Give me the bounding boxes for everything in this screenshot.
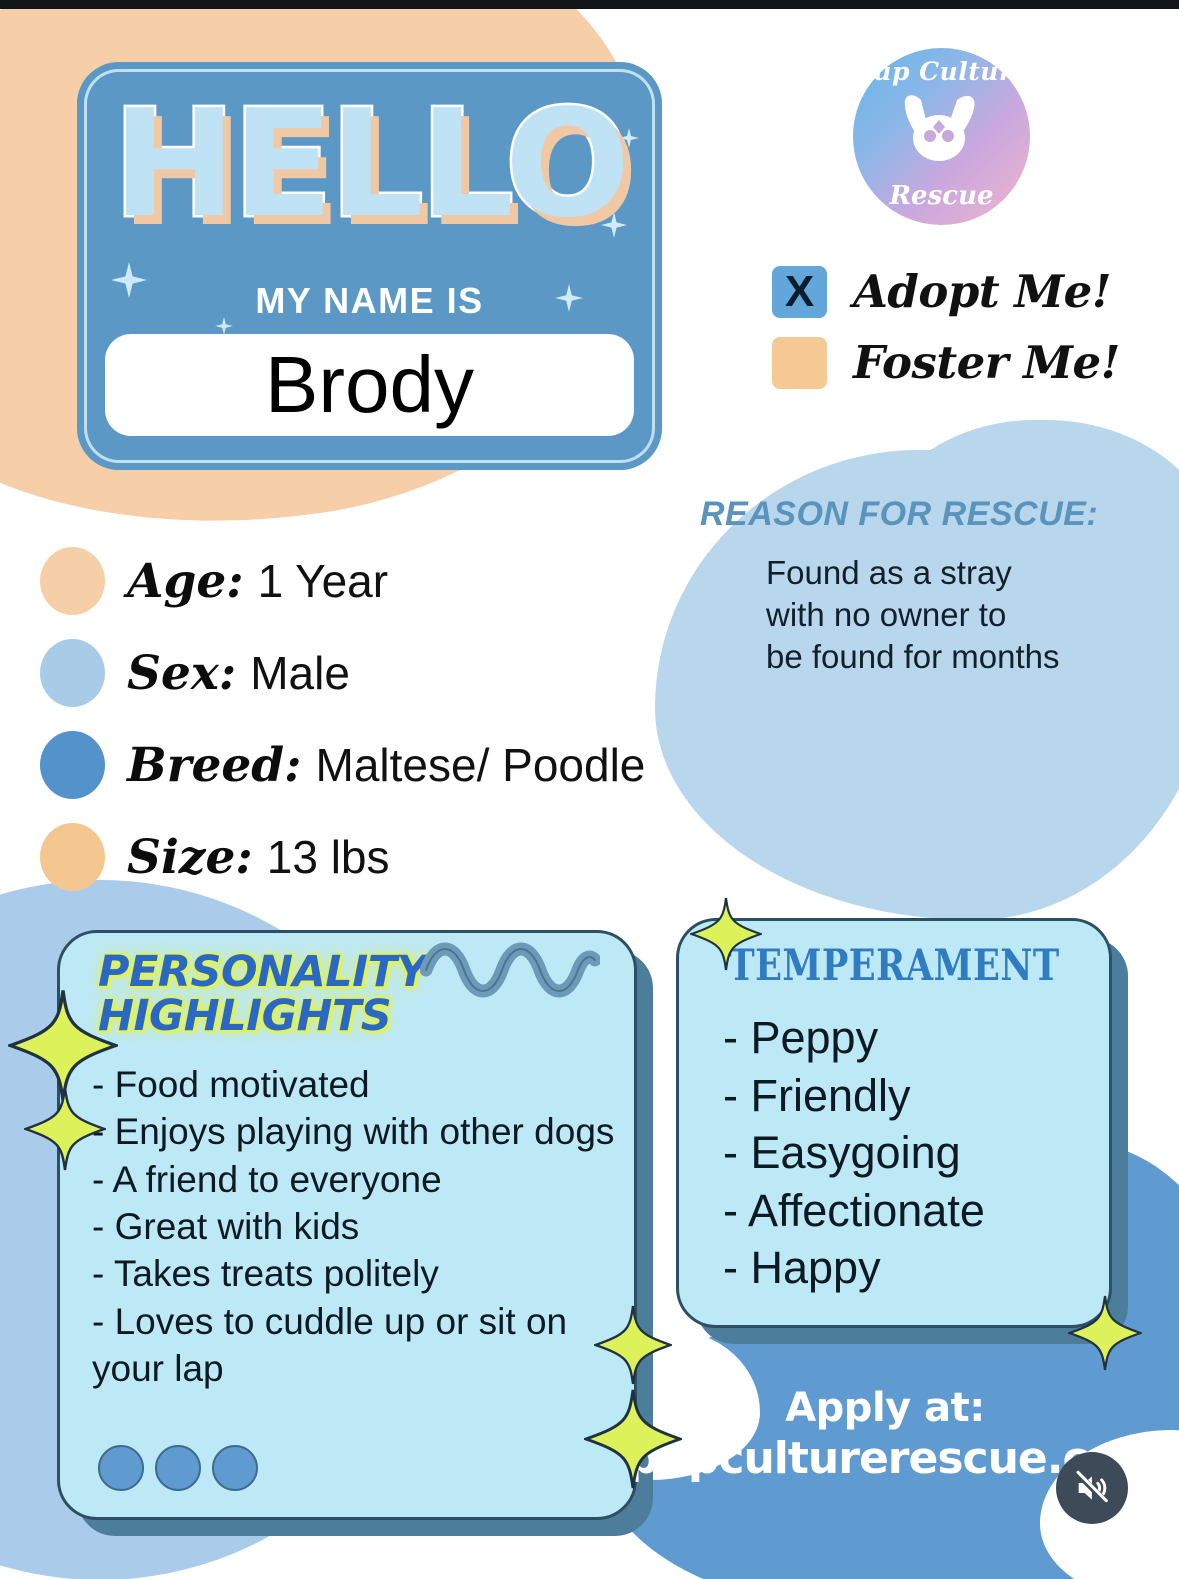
list-item: - Easygoing <box>723 1124 985 1182</box>
list-item: - Loves to cuddle up or sit on your lap <box>92 1298 616 1393</box>
pet-name-field: Brody <box>105 334 634 436</box>
pet-name-value: Brody <box>265 345 474 425</box>
info-row-age: Age: 1 Year <box>40 535 645 627</box>
squiggle-wave-icon <box>420 940 600 1000</box>
info-value-age: 1 Year <box>258 554 388 608</box>
personality-highlights-card: PERSONALITY HIGHLIGHTS - Food motivated … <box>57 930 637 1520</box>
blue-dot-icon <box>155 1445 201 1491</box>
reason-for-rescue-body: Found as a stray with no owner to be fou… <box>700 552 1140 678</box>
info-key-age: Age: <box>127 554 244 609</box>
personality-highlights-title: PERSONALITY HIGHLIGHTS <box>98 951 448 1039</box>
info-value-sex: Male <box>250 646 350 700</box>
info-dot-icon <box>40 823 105 891</box>
pet-info-list: Age: 1 Year Sex: Male Breed: Maltese/ Po… <box>40 535 645 903</box>
temperament-list: - Peppy - Friendly - Easygoing - Affecti… <box>723 1009 985 1297</box>
personality-highlights-list: - Food motivated - Enjoys playing with o… <box>92 1061 616 1393</box>
info-key-sex: Sex: <box>127 646 236 701</box>
list-item: - Food motivated <box>92 1061 616 1108</box>
info-dot-icon <box>40 731 105 799</box>
logo-circle: Pup Culture Rescue <box>853 48 1030 225</box>
hello-text: HELLO <box>77 90 662 238</box>
hello-name-badge: HELLO MY NAME IS Brody <box>77 62 662 470</box>
apply-at-label: Apply at: <box>620 1385 1150 1431</box>
sparkle-star-icon <box>690 896 762 972</box>
adopt-me-row[interactable]: X Adopt Me! <box>772 265 1120 318</box>
sparkle-star-icon <box>24 1086 106 1172</box>
info-key-size: Size: <box>127 830 253 885</box>
personality-title-line2: HIGHLIGHTS <box>98 991 391 1041</box>
pet-adoption-flyer: HELLO MY NAME IS Brody Pup Culture Rescu… <box>0 0 1179 1579</box>
adopt-me-label: Adopt Me! <box>853 265 1111 318</box>
check-x-icon: X <box>772 266 827 318</box>
speaker-muted-icon <box>1072 1468 1112 1508</box>
info-value-size: 13 lbs <box>267 830 390 884</box>
sparkle-star-icon <box>594 1304 672 1386</box>
temperament-card: TEMPERAMENT - Peppy - Friendly - Easygoi… <box>676 918 1112 1328</box>
info-row-sex: Sex: Male <box>40 627 645 719</box>
info-row-breed: Breed: Maltese/ Poodle <box>40 719 645 811</box>
foster-me-checkbox[interactable] <box>772 337 827 389</box>
personality-title-line1: PERSONALITY <box>98 947 427 997</box>
status-checkbox-group: X Adopt Me! Foster Me! <box>772 265 1120 407</box>
list-item: - Friendly <box>723 1067 985 1125</box>
info-dot-icon <box>40 547 105 615</box>
info-key-breed: Breed: <box>127 738 302 793</box>
reason-for-rescue-title: REASON FOR RESCUE: <box>700 495 1140 534</box>
list-item: - Peppy <box>723 1009 985 1067</box>
decorative-dots-row <box>98 1445 258 1491</box>
device-status-bar <box>0 0 1179 9</box>
logo-bottom-text: Rescue <box>853 181 1030 211</box>
sparkle-star-icon <box>584 1388 682 1490</box>
blue-dot-icon <box>212 1445 258 1491</box>
list-item: - A friend to everyone <box>92 1156 616 1203</box>
temperament-title: TEMPERAMENT <box>718 941 1071 991</box>
list-item: - Affectionate <box>723 1182 985 1240</box>
list-item: - Great with kids <box>92 1203 616 1250</box>
foster-me-label: Foster Me! <box>853 336 1120 389</box>
my-name-is-label: MY NAME IS <box>77 280 662 322</box>
list-item: - Happy <box>723 1239 985 1297</box>
list-item: - Enjoys playing with other dogs <box>92 1108 616 1155</box>
info-dot-icon <box>40 639 105 707</box>
info-value-breed: Maltese/ Poodle <box>316 738 646 792</box>
info-row-size: Size: 13 lbs <box>40 811 645 903</box>
foster-me-row[interactable]: Foster Me! <box>772 336 1120 389</box>
sparkle-star-icon <box>1068 1294 1142 1372</box>
list-item: - Takes treats politely <box>92 1250 616 1297</box>
rescue-logo: Pup Culture Rescue <box>853 48 1030 225</box>
mute-button[interactable] <box>1056 1452 1128 1524</box>
blue-dot-icon <box>98 1445 144 1491</box>
adopt-me-checkbox[interactable]: X <box>772 266 827 318</box>
reason-for-rescue-section: REASON FOR RESCUE: Found as a stray with… <box>700 495 1140 678</box>
